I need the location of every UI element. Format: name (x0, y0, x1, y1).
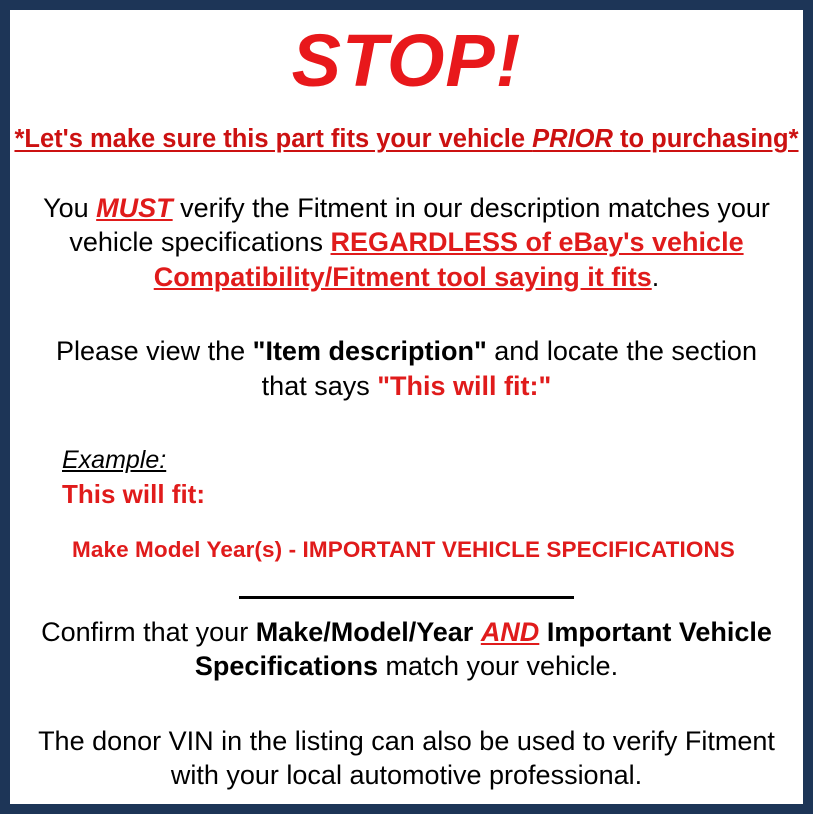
divider-container (10, 589, 803, 603)
must-text-part3: . (652, 262, 660, 292)
paragraph-must-verify: You MUST verify the Fitment in our descr… (36, 191, 777, 295)
notice-content-area: STOP! *Let's make sure this part fits yo… (10, 10, 803, 804)
and-emphasis: AND (481, 617, 540, 647)
confirm-text-part1: Confirm that your (41, 617, 256, 647)
example-spec-line: Make Model Year(s) - IMPORTANT VEHICLE S… (62, 536, 803, 563)
example-block: Example: This will fit: Make Model Year(… (10, 445, 803, 562)
subtitle-prior-emphasis: PRIOR (532, 125, 613, 153)
stop-headline: STOP! (10, 24, 803, 98)
confirm-text-part3 (539, 617, 547, 647)
example-label: Example: (62, 445, 803, 476)
item-description-emphasis: "Item description" (253, 336, 487, 366)
make-model-year-emphasis: Make/Model/Year (256, 617, 474, 647)
must-text-part1: You (43, 193, 96, 223)
fitment-notice-card: STOP! *Let's make sure this part fits yo… (0, 0, 813, 814)
confirm-text-part4: match your vehicle. (378, 651, 618, 681)
paragraph-confirm: Confirm that your Make/Model/Year AND Im… (36, 615, 777, 684)
horizontal-rule (239, 596, 574, 599)
example-fit-header: This will fit: (62, 479, 803, 510)
subtitle-banner: *Let's make sure this part fits your veh… (14, 124, 799, 155)
paragraph-view-description: Please view the "Item description" and l… (36, 334, 777, 403)
must-emphasis: MUST (96, 193, 173, 223)
subtitle-after: to purchasing* (613, 125, 799, 153)
paragraph-donor-vin: The donor VIN in the listing can also be… (36, 724, 777, 793)
view-text-part1: Please view the (56, 336, 253, 366)
this-will-fit-emphasis: "This will fit:" (377, 371, 551, 401)
subtitle-before: *Let's make sure this part fits your veh… (14, 125, 532, 153)
confirm-text-part2 (473, 617, 481, 647)
